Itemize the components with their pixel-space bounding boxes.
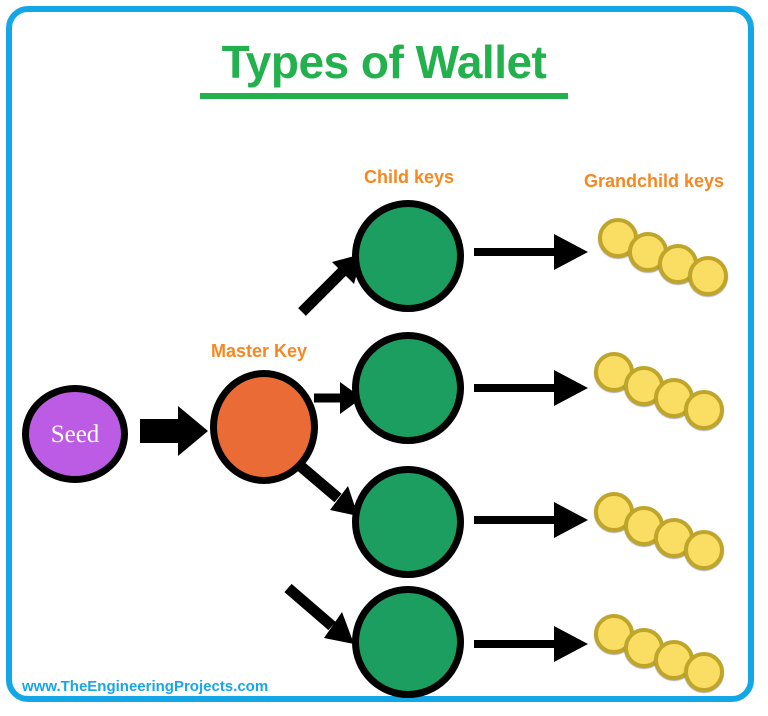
page-title: Types of Wallet: [0, 38, 768, 86]
node-seed: Seed: [22, 385, 128, 483]
node-child-key-2: [352, 332, 464, 444]
node-seed-label: Seed: [51, 422, 100, 447]
grandchild-key-chain-1: [598, 218, 734, 296]
diagram-canvas: Types of Wallet Child keys Grandchild ke…: [0, 0, 768, 716]
node-child-key-1: [352, 200, 464, 312]
arrow-child-3-to-chain-icon: [474, 500, 590, 545]
key-bead-icon: [684, 390, 724, 430]
grandchild-key-chain-3: [594, 492, 730, 570]
arrow-seed-to-master-icon: [140, 404, 210, 463]
arrow-child-2-to-chain-icon: [474, 368, 590, 413]
label-master-key: Master Key: [211, 341, 307, 362]
node-child-key-4: [352, 586, 464, 698]
grandchild-key-chain-2: [594, 352, 730, 430]
label-grandchild-keys: Grandchild keys: [584, 171, 724, 192]
arrow-child-4-to-chain-icon: [474, 624, 590, 669]
key-bead-icon: [684, 652, 724, 692]
key-bead-icon: [688, 256, 728, 296]
grandchild-key-chain-4: [594, 614, 730, 692]
arrow-child-1-to-chain-icon: [474, 232, 590, 277]
label-child-keys: Child keys: [364, 167, 454, 188]
title-block: Types of Wallet: [0, 38, 768, 99]
title-underline-rule: [200, 93, 568, 99]
footer-website-url: www.TheEngineeringProjects.com: [22, 678, 268, 695]
node-child-key-3: [352, 466, 464, 578]
key-bead-icon: [684, 530, 724, 570]
